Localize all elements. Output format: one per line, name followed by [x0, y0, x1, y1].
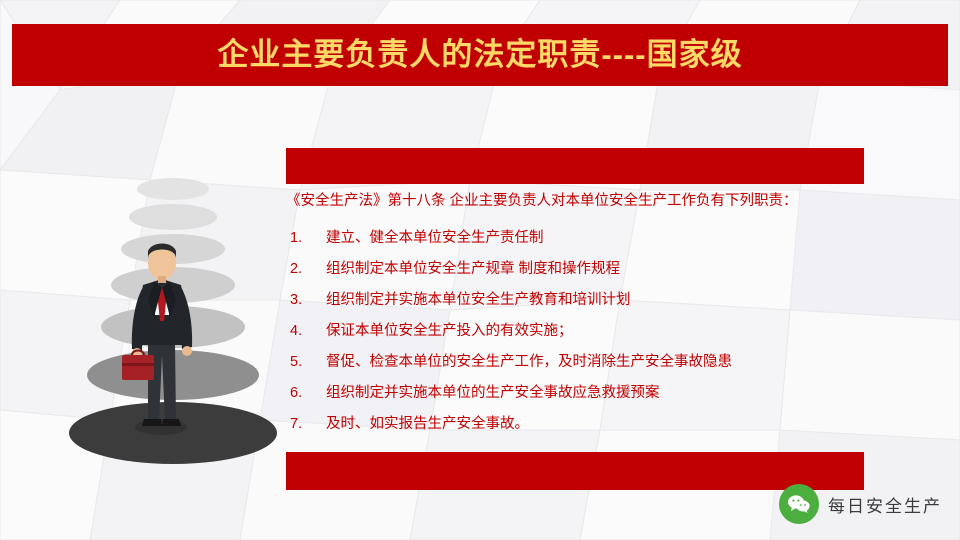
watermark: 每日安全生产 — [779, 484, 942, 524]
watermark-label: 每日安全生产 — [828, 492, 942, 517]
content-bottom-bar — [286, 452, 864, 490]
duties-list: 建立、健全本单位安全生产责任制 组织制定本单位安全生产规章 制度和操作规程 组织… — [286, 228, 876, 434]
list-item: 组织制定本单位安全生产规章 制度和操作规程 — [286, 259, 876, 279]
slide-title: 企业主要负责人的法定职责----国家级 — [12, 24, 948, 86]
businessman-illustration — [58, 175, 288, 485]
list-item: 及时、如实报告生产安全事故。 — [286, 414, 876, 434]
slide: 企业主要负责人的法定职责----国家级 — [0, 0, 960, 540]
lead-paragraph: 《安全生产法》第十八条 企业主要负责人对本单位安全生产工作负有下列职责： — [286, 188, 876, 214]
list-item: 督促、检查本单位的安全生产工作，及时消除生产安全事故隐患 — [286, 352, 876, 372]
list-item: 保证本单位安全生产投入的有效实施； — [286, 321, 876, 341]
wechat-glyph — [787, 494, 811, 514]
list-item: 组织制定并实施本单位的生产安全事故应急救援预案 — [286, 383, 876, 403]
list-item: 组织制定并实施本单位安全生产教育和培训计划 — [286, 290, 876, 310]
content-top-bar — [286, 148, 864, 184]
wechat-icon — [779, 484, 819, 524]
list-item: 建立、健全本单位安全生产责任制 — [286, 228, 876, 248]
content-block: 《安全生产法》第十八条 企业主要负责人对本单位安全生产工作负有下列职责： 建立、… — [286, 188, 876, 445]
